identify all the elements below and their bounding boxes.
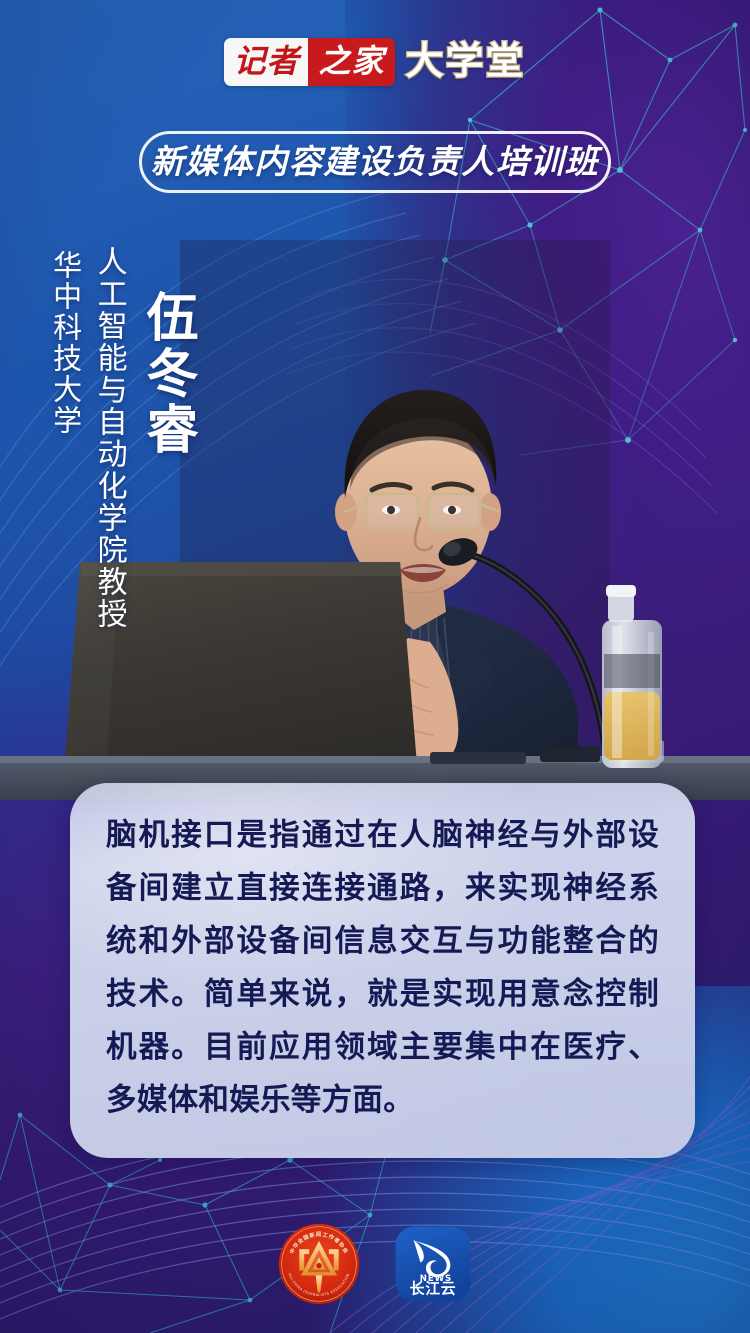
speaker-name: 伍冬睿 (140, 290, 193, 458)
quote-text: 脑机接口是指通过在人脑神经与外部设备间建立直接连接通路，来实现神经系统和外部设备… (70, 783, 695, 1127)
logo-text-daxuetang: 大学堂 (406, 43, 526, 81)
header-logo-group: 记者 之家 大学堂 (0, 38, 750, 86)
page-title: 新媒体内容建设负责人培训班 (0, 135, 750, 189)
acja-seal-icon: 中华全国新闻工作者协会 ALL-CHINA JOURNALISTS ASSOCI… (278, 1223, 360, 1305)
logo-text-jizhe: 记者 (224, 38, 308, 86)
poster-root: 记者 之家 大学堂 新媒体内容建设负责人培训班 (0, 0, 750, 1333)
footer-logo-group: 中华全国新闻工作者协会 ALL-CHINA JOURNALISTS ASSOCI… (0, 1223, 750, 1305)
journalist-home-logo-icon: 记者 之家 (224, 38, 394, 86)
logo-text-zhijia: 之家 (308, 38, 394, 86)
quote-card: 脑机接口是指通过在人脑神经与外部设备间建立直接连接通路，来实现神经系统和外部设备… (70, 783, 695, 1158)
speaker-role: 人工智能与自动化学院教授 (93, 246, 124, 630)
changjiangyun-logo-icon: NEWS 长江云 (394, 1225, 472, 1303)
changjiangyun-main-label: 长江云 (410, 1280, 457, 1298)
speaker-organization: 华中科技大学 (49, 250, 79, 436)
